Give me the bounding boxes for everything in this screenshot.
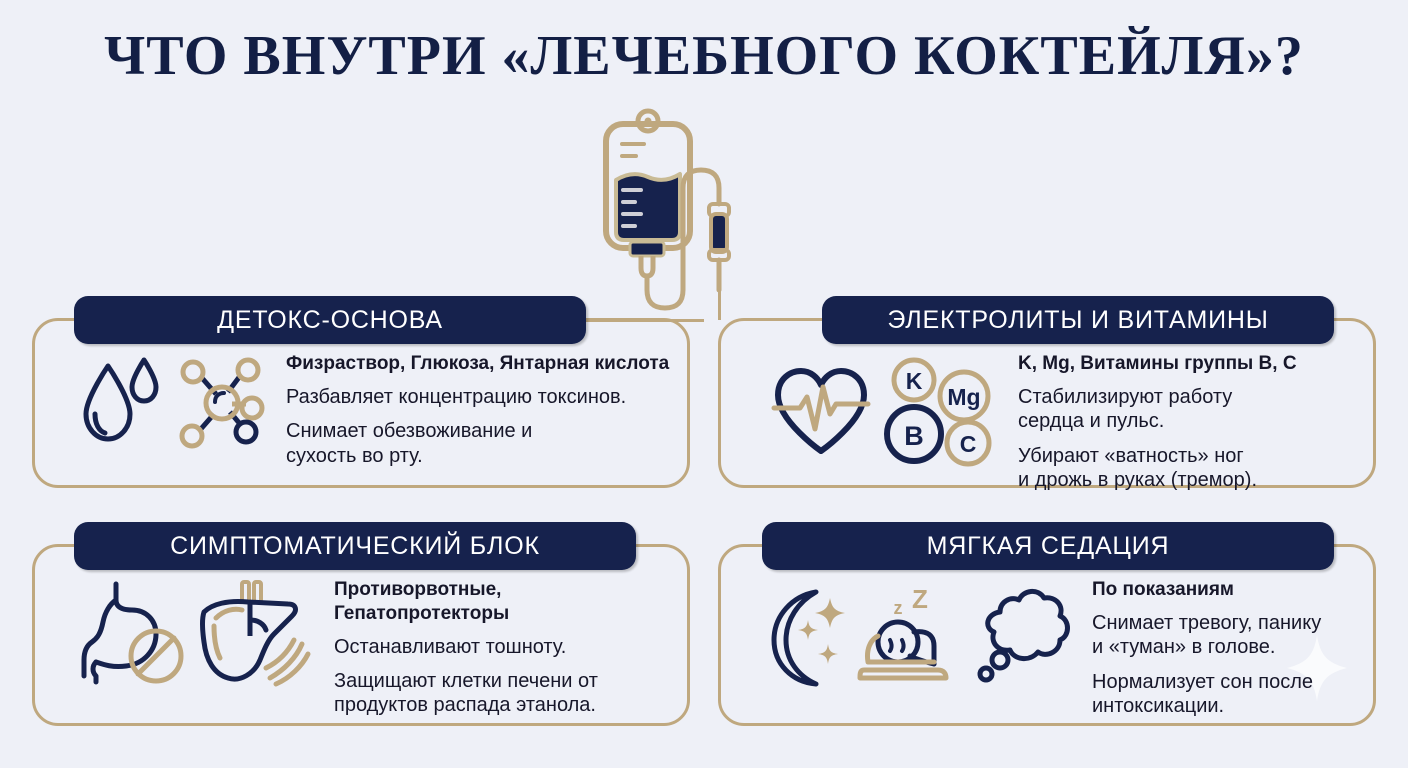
vitamin-label-mg: Mg (947, 384, 980, 410)
icon-group-detox (78, 352, 270, 456)
detox-strong: Физраствор, Глюкоза, Янтарная кислота (286, 352, 669, 376)
electrolytes-para-1: Стабилизируют работу сердца и пульс. (1018, 385, 1297, 434)
card-header-sedation: МЯГКАЯ СЕДАЦИЯ (762, 522, 1334, 570)
iv-drip-bag-icon (596, 108, 826, 338)
text-block-detox: Физраствор, Глюкоза, Янтарная кислота Ра… (286, 352, 669, 468)
molecule-icon (170, 352, 270, 456)
card-header-symptomatic: СИМПТОМАТИЧЕСКИЙ БЛОК (74, 522, 636, 570)
iv-drip-illustration (596, 108, 826, 338)
moon-stars-icon (756, 578, 852, 690)
page-title: ЧТО ВНУТРИ «ЛЕЧЕБНОГО КОКТЕЙЛЯ»? (0, 24, 1408, 88)
vitamin-circles-icon: K Mg B C (880, 352, 1002, 470)
sleep-z-small: z (894, 598, 903, 618)
vitamin-label-c: C (960, 431, 977, 457)
detox-para-2: Снимает обезвоживание и сухость во рту. (286, 419, 669, 468)
symptomatic-para-2: Защищают клетки печени от продуктов расп… (334, 669, 598, 718)
vitamin-label-b: B (904, 421, 924, 451)
liver-icon (194, 578, 312, 688)
sedation-para-1: Снимает тревогу, панику и «туман» в голо… (1092, 611, 1321, 660)
icon-group-symptomatic (78, 578, 312, 688)
infographic-root: ЧТО ВНУТРИ «ЛЕЧЕБНОГО КОКТЕЙЛЯ»? (0, 0, 1408, 768)
sedation-para-2: Нормализует сон после интоксикации. (1092, 670, 1321, 719)
card-header-electrolytes: ЭЛЕКТРОЛИТЫ И ВИТАМИНЫ (822, 296, 1334, 344)
symptomatic-strong: Противорвотные, Гепатопротекторы (334, 578, 598, 626)
icon-group-sedation: Z z (756, 578, 1078, 690)
icon-group-electrolytes: K Mg B C (766, 352, 1002, 470)
symptomatic-para-1: Останавливают тошноту. (334, 635, 598, 659)
water-drop-icon (78, 352, 164, 456)
card-header-detox: ДЕТОКС-ОСНОВА (74, 296, 586, 344)
card-content-symptomatic: Противорвотные, Гепатопротекторы Останав… (78, 578, 598, 718)
electrolytes-strong: K, Mg, Витамины группы B, C (1018, 352, 1297, 376)
card-content-sedation: Z z По показаниям Снимает тревогу, паник… (756, 578, 1321, 718)
thought-cloud-icon (966, 578, 1078, 690)
sedation-strong: По показаниям (1092, 578, 1321, 602)
electrolytes-para-2: Убирают «ватность» ног и дрожь в руках (… (1018, 444, 1297, 493)
heart-pulse-icon (766, 359, 876, 463)
card-content-electrolytes: K Mg B C K, Mg, Витамины группы B, C Ста… (766, 352, 1297, 492)
detox-para-1: Разбавляет концентрацию токсинов. (286, 385, 669, 409)
connector-line-vertical (718, 286, 721, 320)
sleeping-person-icon: Z z (854, 578, 966, 690)
stomach-no-icon (78, 578, 190, 688)
card-content-detox: Физраствор, Глюкоза, Янтарная кислота Ра… (78, 352, 669, 468)
vitamin-label-k: K (906, 368, 923, 394)
text-block-symptomatic: Противорвотные, Гепатопротекторы Останав… (334, 578, 598, 718)
text-block-sedation: По показаниям Снимает тревогу, панику и … (1092, 578, 1321, 718)
text-block-electrolytes: K, Mg, Витамины группы B, C Стабилизирую… (1018, 352, 1297, 492)
sleep-z-large: Z (912, 584, 928, 614)
